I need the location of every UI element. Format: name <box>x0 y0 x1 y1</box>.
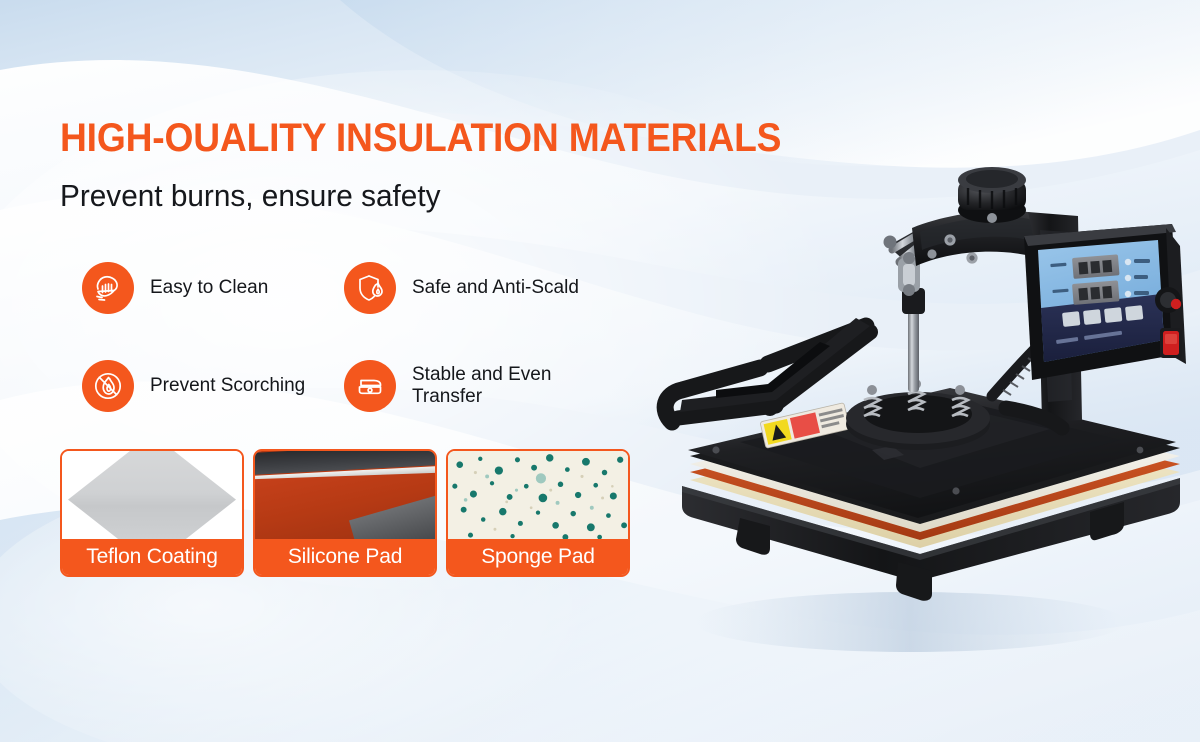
no-fire-icon <box>82 360 134 412</box>
panel-button-down <box>1104 307 1122 323</box>
shield-flame-icon <box>344 262 396 314</box>
deck-screw <box>1137 447 1144 454</box>
deck-screw <box>952 487 959 494</box>
cleaning-hand-cloth-icon <box>82 262 134 314</box>
material-card-silicone-pad[interactable]: Silicone Pad <box>253 449 437 577</box>
arm-bolt <box>927 249 936 258</box>
page-subtitle: Prevent burns, ensure safety <box>60 178 440 214</box>
silicone-swatch-image <box>255 451 435 543</box>
pressure-adjust-knob <box>958 167 1026 223</box>
material-card-teflon-coating[interactable]: Teflon Coating <box>60 449 244 577</box>
indicator-lamp <box>1171 299 1181 309</box>
material-card-caption: Silicone Pad <box>255 539 435 575</box>
material-card-caption: Teflon Coating <box>62 539 242 575</box>
feature-item-easy-to-clean: Easy to Clean <box>82 262 268 314</box>
feature-item-stable-and-even-transfer: Stable and Even Transfer <box>344 360 551 412</box>
heat-press-machine-image <box>620 150 1200 670</box>
banner-stage: HIGH-OUALITY INSULATION MATERIALS Preven… <box>0 0 1200 742</box>
feature-item-safe-and-anti-scald: Safe and Anti-Scald <box>344 262 579 314</box>
sponge-speckle-texture <box>448 451 628 541</box>
feature-label: Safe and Anti-Scald <box>412 277 579 299</box>
deck-screw <box>712 446 719 453</box>
panel-button-ok <box>1125 305 1143 321</box>
feature-item-prevent-scorching: Prevent Scorching <box>82 360 305 412</box>
feature-label: Stable and Even Transfer <box>412 364 551 408</box>
iron-press-icon <box>344 360 396 412</box>
feature-label: Prevent Scorching <box>150 375 305 397</box>
feature-label: Easy to Clean <box>150 277 268 299</box>
machine-shadow <box>695 592 1125 652</box>
panel-button-up <box>1083 309 1101 325</box>
material-card-sponge-pad[interactable]: Sponge Pad <box>446 449 630 577</box>
material-card-list: Teflon Coating Silicone Pad <box>60 449 630 577</box>
teflon-sheet-shape <box>68 451 236 543</box>
sponge-swatch-image <box>448 451 628 543</box>
material-card-caption: Sponge Pad <box>448 539 628 575</box>
teflon-swatch-image <box>62 451 242 543</box>
knob-shaft <box>987 213 997 223</box>
panel-button-set <box>1062 311 1080 327</box>
